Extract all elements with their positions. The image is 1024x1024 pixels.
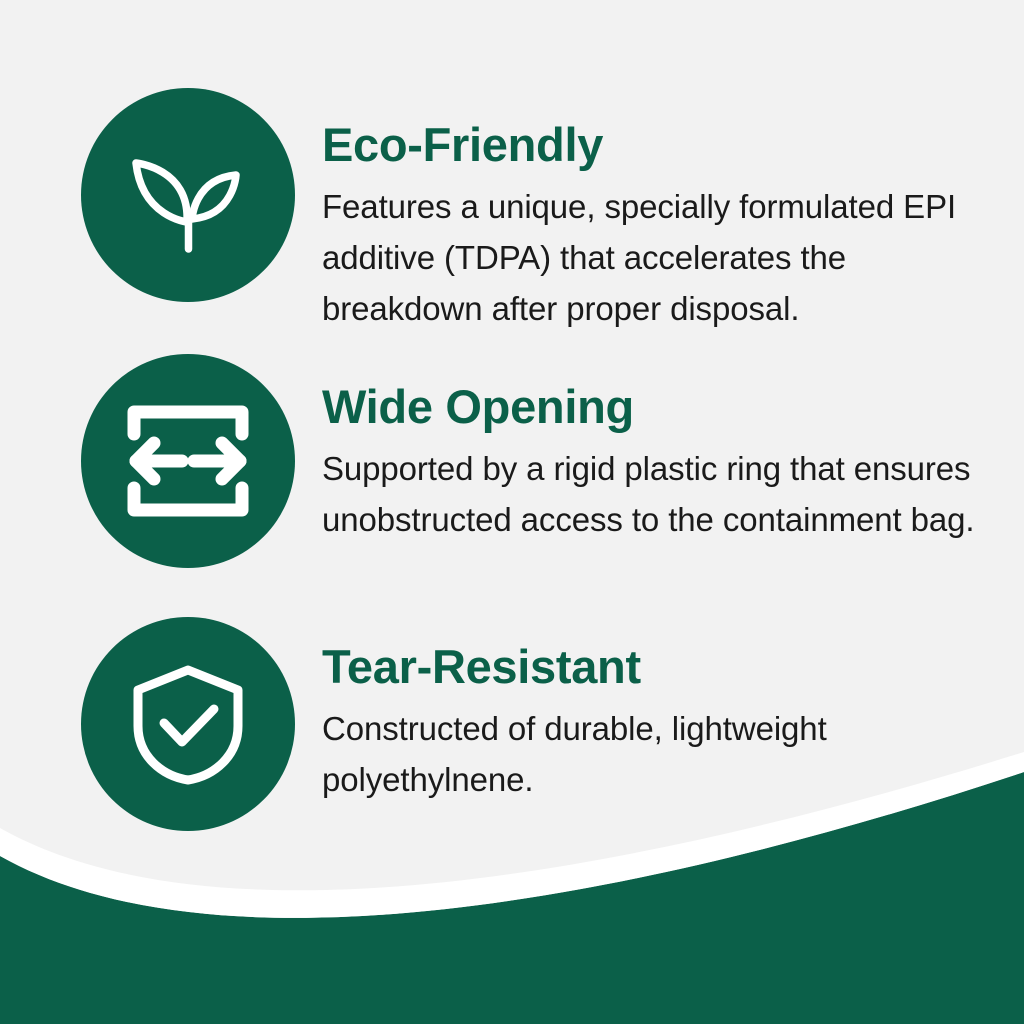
- feature-title: Tear-Resistant: [322, 617, 1002, 693]
- feature-item-wide-opening: Wide Opening Supported by a rigid plasti…: [81, 354, 981, 568]
- feature-description: Supported by a rigid plastic ring that e…: [322, 433, 1002, 545]
- feature-text-block: Eco-Friendly Features a unique, speciall…: [322, 88, 1002, 334]
- feature-text-block: Tear-Resistant Constructed of durable, l…: [322, 617, 1002, 805]
- feature-list-page: Eco-Friendly Features a unique, speciall…: [0, 0, 1024, 1024]
- plant-sprout-icon: [81, 88, 295, 302]
- feature-title: Eco-Friendly: [322, 88, 1002, 171]
- feature-item-eco-friendly: Eco-Friendly Features a unique, speciall…: [81, 88, 981, 302]
- feature-item-tear-resistant: Tear-Resistant Constructed of durable, l…: [81, 617, 981, 831]
- feature-description: Constructed of durable, lightweight poly…: [322, 693, 1002, 805]
- feature-text-block: Wide Opening Supported by a rigid plasti…: [322, 354, 1002, 545]
- feature-title: Wide Opening: [322, 354, 1002, 433]
- shield-check-icon: [81, 617, 295, 831]
- feature-description: Features a unique, specially formulated …: [322, 171, 1002, 334]
- wide-opening-arrows-icon: [81, 354, 295, 568]
